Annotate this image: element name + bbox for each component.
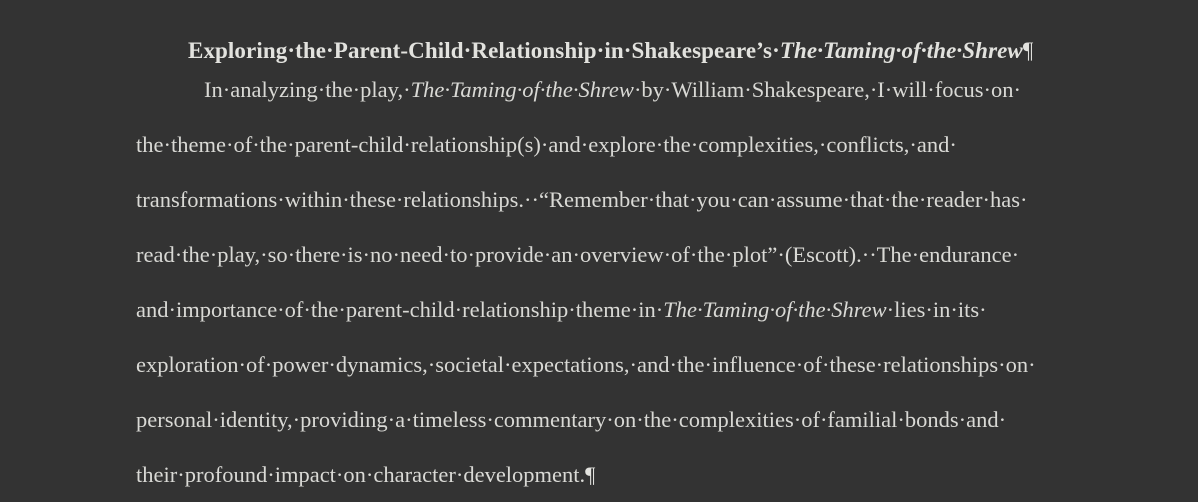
title-text-plain: Exploring·the·Parent-Child·Relationship·…	[188, 38, 780, 63]
line-text: and·importance·of·the·parent-child·relat…	[136, 297, 663, 322]
line-text: transformations·within·these·relationshi…	[136, 187, 1028, 212]
document-line: exploration·of·power·dynamics,·societal·…	[136, 337, 1136, 392]
paragraph-mark-icon: ¶	[1023, 38, 1034, 63]
document-line: and·importance·of·the·parent-child·relat…	[136, 282, 1136, 337]
italic-book-title: The·Taming·of·the·Shrew	[663, 297, 886, 322]
italic-book-title: The·Taming·of·the·Shrew	[411, 77, 634, 102]
line-text: the·theme·of·the·parent-child·relationsh…	[136, 132, 957, 157]
document-line: In·analyzing·the·play,·The·Taming·of·the…	[136, 62, 1136, 117]
line-text: ·by·William·Shakespeare,·I·will·focus·on…	[634, 77, 1021, 102]
document-body[interactable]: In·analyzing·the·play,·The·Taming·of·the…	[136, 62, 1136, 502]
line-text: exploration·of·power·dynamics,·societal·…	[136, 352, 1036, 377]
document-line: the·theme·of·the·parent-child·relationsh…	[136, 117, 1136, 172]
paragraph-mark-icon: ¶	[585, 462, 595, 487]
document-line: read·the·play,·so·there·is·no·need·to·pr…	[136, 227, 1136, 282]
document-page: Exploring·the·Parent-Child·Relationship·…	[0, 0, 1198, 490]
line-text: read·the·play,·so·there·is·no·need·to·pr…	[136, 242, 1019, 267]
title-book-title: The·Taming·of·the·Shrew	[780, 38, 1023, 63]
line-text: personal·identity,·providing·a·timeless·…	[136, 407, 1006, 432]
document-line: their·profound·impact·on·character·devel…	[136, 447, 1136, 502]
document-line: transformations·within·these·relationshi…	[136, 172, 1136, 227]
document-line: personal·identity,·providing·a·timeless·…	[136, 392, 1136, 447]
line-text: In·analyzing·the·play,·	[204, 77, 411, 102]
line-text: their·profound·impact·on·character·devel…	[136, 462, 585, 487]
line-text: ·lies·in·its·	[887, 297, 987, 322]
